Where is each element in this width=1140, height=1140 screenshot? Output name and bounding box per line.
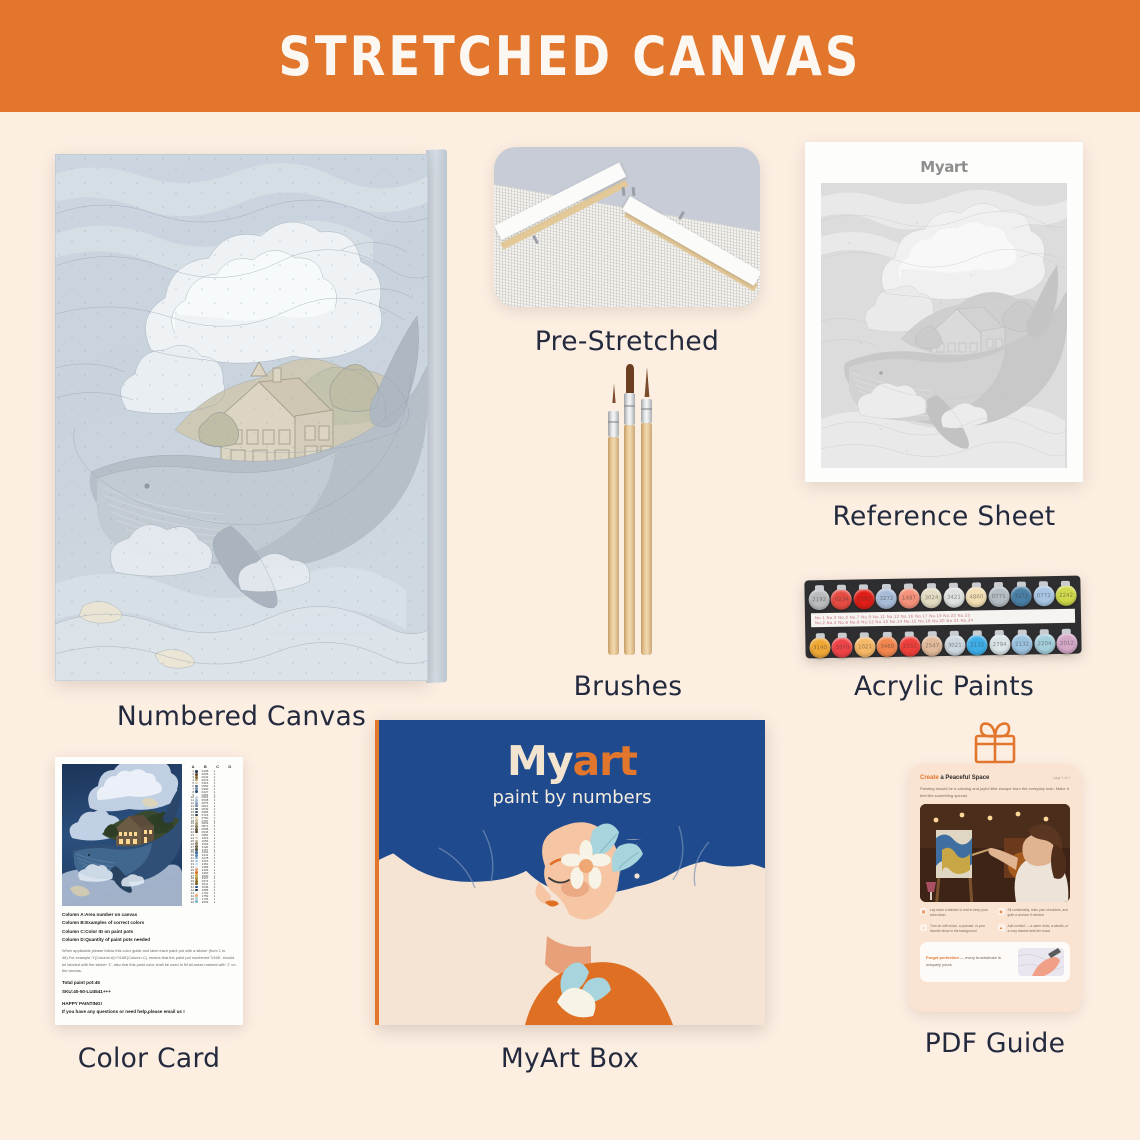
sku-text: SKU:40-50-LU4541+++	[62, 988, 236, 996]
legend-line-b: Column B:Examples of correct colors	[62, 919, 236, 927]
pre-stretched-label: Pre-Stretched	[494, 326, 760, 357]
woman-painting-photo	[920, 804, 1070, 902]
paint-pot-row-bottom: 3140187010213460215225473021213227942132…	[809, 629, 1077, 663]
tip-text: Sit comfortably, relax your shoulders, a…	[1008, 908, 1071, 919]
paint-pot: 2204	[1034, 633, 1055, 654]
col-a-header: A	[192, 764, 195, 769]
cushion-icon: ◉	[998, 908, 1005, 915]
tip-text: Lay down a blanket or mat to keep your a…	[930, 908, 993, 919]
brush-ferrule	[624, 393, 635, 425]
contact-text: If you have any questions or need help,p…	[62, 1008, 236, 1016]
product-contents-grid: Numbered Canvas Pre-Stretched Myart	[0, 112, 1140, 1140]
legend-line-c: Column C:Color ID on paint pots	[62, 928, 236, 936]
paint-pot-row-top: 2192023421623272148730243421486007713272…	[808, 581, 1076, 615]
brush-handle	[608, 437, 619, 655]
brush-bristles	[642, 367, 652, 399]
paint-pot: 3460	[877, 636, 898, 657]
callout-thumbnail	[1018, 948, 1064, 976]
color-id: 1833	[199, 900, 211, 904]
brush-ferrule	[608, 411, 619, 437]
legend-body-text: When applicable,please follow this color…	[62, 948, 236, 975]
paint-pot: 2162	[853, 588, 874, 609]
callout-accent: Forget perfection	[926, 955, 959, 960]
whale-house-color-art	[62, 764, 182, 906]
brush-ferrule	[641, 399, 652, 423]
paint-pot: 3272	[876, 588, 897, 609]
paint-pot: 3024	[921, 587, 942, 608]
reference-sheet-label: Reference Sheet	[805, 501, 1083, 532]
legend-line-a: Column A:Area number on canvas	[62, 911, 236, 919]
paint-tray-image: 2192023421623272148730243421486007713272…	[805, 567, 1087, 667]
hand-painting-thumb	[1018, 948, 1064, 976]
color-card-paper: A B C D 10168120205130242140279150316160…	[55, 757, 243, 1025]
paint-pot-id: 1487	[898, 587, 919, 608]
paint-pot: 2192	[808, 589, 829, 610]
callout-text: Forget perfection — every brushstroke is…	[926, 955, 1013, 968]
paint-pot-id: 3421	[943, 587, 964, 608]
table-row: 4618331	[187, 900, 236, 903]
acrylic-paints-item: 2192023421623272148730243421486007713272…	[805, 567, 1087, 702]
paint-pot-id: 2794	[989, 634, 1010, 655]
paint-pot-id: 1021	[854, 636, 875, 657]
reference-sheet-item: Myart	[805, 142, 1087, 532]
tip-item: ▲ Add comfort — a warm drink, a candle, …	[998, 924, 1071, 935]
paint-pot: 1021	[854, 636, 875, 657]
pdf-page-number: page 1 of 1	[1054, 776, 1071, 780]
paint-pot: 4860	[966, 586, 987, 607]
color-card-item: A B C D 10168120205130242140279150316160…	[55, 757, 250, 1074]
paint-pot-id: 0771	[988, 586, 1009, 607]
paint-pot: 3272	[1011, 585, 1032, 606]
paint-pot: 2547	[922, 635, 943, 656]
myart-box-item: Myart paint by numbers	[375, 720, 765, 1074]
paint-pot-id: 3272	[876, 588, 897, 609]
brush-handle	[624, 425, 635, 655]
paint-pot-id: 2012	[1056, 633, 1077, 654]
paint-pot-id: 3024	[921, 587, 942, 608]
reference-sheet-art	[821, 183, 1067, 468]
paint-pot: 0234	[831, 589, 852, 610]
tip-item: ◉ Sit comfortably, relax your shoulders,…	[998, 908, 1071, 919]
woman-illustration	[379, 820, 765, 1025]
brushes-item: Brushes	[495, 355, 763, 702]
paint-pot-id: 3460	[877, 636, 898, 657]
pdf-page-title: Create a Peaceful Space	[920, 775, 989, 781]
color-card-legend: Column A:Area number on canvas Column B:…	[62, 911, 236, 1016]
pre-stretched-item: Pre-Stretched	[494, 147, 762, 357]
paint-pot-id: 2152	[899, 635, 920, 656]
paint-pot: 2012	[1056, 633, 1077, 654]
box-logo: Myart	[379, 720, 765, 785]
color-card-artwork	[62, 764, 182, 906]
paint-pot: 2132	[966, 634, 987, 655]
myart-box-image: Myart paint by numbers	[375, 720, 765, 1025]
paint-pot-id: 2132	[966, 634, 987, 655]
paint-pot-id: 4860	[966, 586, 987, 607]
paint-pot-id: 0234	[831, 589, 852, 610]
color-swatch	[195, 900, 198, 903]
gift-icon-wrap	[895, 720, 1095, 760]
paint-pot-id: 3140	[809, 637, 830, 658]
box-subtitle: paint by numbers	[379, 787, 765, 808]
candle-icon: ▲	[998, 924, 1005, 931]
tip-text: Add comfort — a warm drink, a candle, or…	[1008, 924, 1071, 935]
color-card-table: A B C D 10168120205130242140279150316160…	[187, 764, 236, 906]
pre-stretched-photo	[494, 147, 760, 307]
staple-icon	[632, 187, 636, 196]
paint-pot: 3140	[809, 637, 830, 658]
paint-pot-id: 0772	[1033, 585, 1054, 606]
paint-pot-id: 2162	[853, 588, 874, 609]
acrylic-paints-label: Acrylic Paints	[805, 671, 1083, 702]
music-icon: ♪	[920, 924, 927, 931]
reference-sheet-paper: Myart	[805, 142, 1083, 482]
paint-pot-id: 2192	[808, 589, 829, 610]
paint-pot-id: 2204	[1034, 633, 1055, 654]
paint-pot: 3421	[943, 587, 964, 608]
brush-bristles	[609, 383, 619, 411]
page-header: STRETCHED CANVAS	[0, 0, 1140, 112]
color-card-rows: 1016812020513024214027915031616035317039…	[187, 770, 236, 903]
paint-pot-id: 2242	[1055, 585, 1076, 606]
tip-item: ♪ Turn on soft music, a podcast, or your…	[920, 924, 993, 935]
page-title: STRETCHED CANVAS	[279, 25, 862, 88]
paint-pot: 2132	[1011, 633, 1032, 654]
gift-icon	[969, 720, 1021, 764]
myart-logo: Myart	[821, 158, 1067, 176]
brush-pointed-round	[641, 370, 652, 655]
brush-bristles	[623, 363, 637, 393]
logo-art-text: art	[573, 737, 638, 785]
brush-flat	[624, 365, 635, 655]
logo-my-text: My	[507, 737, 573, 785]
col-b-header: B	[204, 764, 207, 769]
numbered-canvas-item: Numbered Canvas	[55, 150, 455, 732]
paint-pot: 1870	[832, 637, 853, 658]
numbered-canvas-image	[55, 150, 447, 683]
pdf-guide-label: PDF Guide	[895, 1028, 1095, 1059]
paint-pot-id: 3021	[944, 635, 965, 656]
brushes-label: Brushes	[495, 671, 761, 702]
paint-tray: 2192023421623272148730243421486007713272…	[804, 576, 1081, 659]
tip-text: Turn on soft music, a podcast, or your f…	[930, 924, 993, 935]
paint-pot: 1487	[898, 587, 919, 608]
paint-pot: 3021	[944, 635, 965, 656]
pdf-title-rest: a Peaceful Space	[939, 775, 990, 781]
table-header-row: A B C D	[187, 764, 236, 769]
area-number: 46	[187, 900, 194, 904]
color-card-label: Color Card	[55, 1043, 243, 1074]
paint-pot-id: 2132	[1011, 633, 1032, 654]
paint-pot: 0771	[988, 586, 1009, 607]
col-d-header: D	[228, 764, 231, 769]
canvas-front-face	[55, 154, 428, 681]
paint-pot-id: 2547	[922, 635, 943, 656]
greyscale-whale-art	[821, 183, 1067, 468]
paint-pot: 2794	[989, 634, 1010, 655]
staple-icon	[622, 187, 626, 196]
myart-box-label: MyArt Box	[375, 1043, 765, 1074]
brushes-image	[495, 355, 763, 655]
col-c-header: C	[216, 764, 219, 769]
total-paint-pots: Total paint pot:46	[62, 979, 236, 987]
paint-pot: 2242	[1055, 585, 1076, 606]
legend-line-d: Column D:Quantity of paint pots needed	[62, 936, 236, 944]
brush-handle	[641, 423, 652, 655]
whale-house-outline-art	[55, 154, 428, 681]
pdf-tips: ▦ Lay down a blanket or mat to keep your…	[920, 908, 1070, 940]
paint-pot-id: 3272	[1011, 585, 1032, 606]
paint-pot: 0772	[1033, 585, 1054, 606]
canvas-depth-edge	[426, 149, 447, 683]
tip-item: ▦ Lay down a blanket or mat to keep your…	[920, 908, 993, 919]
pdf-title-accent: Create	[920, 775, 939, 781]
paint-pot: 2152	[899, 635, 920, 656]
pdf-guide-page: Create a Peaceful Space page 1 of 1 Pain…	[909, 764, 1081, 1012]
numbered-canvas-label: Numbered Canvas	[55, 701, 428, 732]
happy-painting-text: HAPPY PAINTING!	[62, 1000, 236, 1008]
pdf-guide-item: Create a Peaceful Space page 1 of 1 Pain…	[895, 720, 1095, 1059]
pot-quantity: 1	[212, 900, 217, 904]
paint-pot-id: 1870	[832, 637, 853, 658]
pdf-callout: Forget perfection — every brushstroke is…	[920, 942, 1070, 982]
brush-thin-round	[608, 397, 619, 655]
pdf-intro-text: Painting should be a calming and joyful …	[920, 785, 1070, 799]
pdf-hero-photo	[920, 804, 1070, 902]
mat-icon: ▦	[920, 908, 927, 915]
